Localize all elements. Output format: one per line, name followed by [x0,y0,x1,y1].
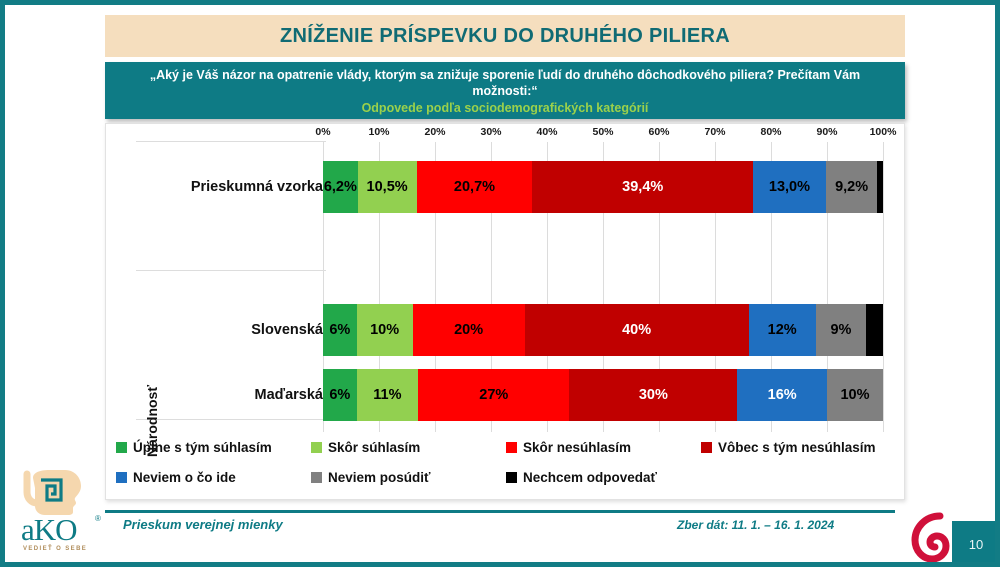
bar-segment[interactable] [866,304,883,356]
logo-wordmark: aKO [21,512,77,548]
x-axis-tick: 90% [816,126,837,138]
bar-segment[interactable]: 16% [737,369,827,421]
bar-segment[interactable]: 30% [569,369,737,421]
chart-legend: Úplne s tým súhlasímSkôr súhlasímSkôr ne… [106,440,906,500]
x-axis-tick: 100% [870,126,897,138]
legend-label: Nechcem odpovedať [523,470,657,485]
footer-divider [105,510,895,513]
legend-swatch [701,442,712,453]
x-axis-tick: 0% [315,126,330,138]
legend-swatch [311,442,322,453]
bar-segment[interactable]: 6% [323,369,357,421]
bar-segment[interactable]: 39,4% [532,161,753,213]
page-title: ZNÍŽENIE PRÍSPEVKU DO DRUHÉHO PILIERA [280,25,730,48]
legend-label: Neviem posúdiť [328,470,431,485]
legend-label: Skôr súhlasím [328,440,420,455]
legend-item[interactable]: Skôr súhlasím [311,440,420,455]
footer-caption: Prieskum verejnej mienky [123,517,283,532]
bar-row: Prieskumná vzorka6,2%10,5%20,7%39,4%13,0… [106,161,906,213]
page-number-badge: 10 [952,521,1000,567]
chart-card: 0%10%20%30%40%50%60%70%80%90%100% Priesk… [105,123,905,500]
bar-segment[interactable]: 6,2% [323,161,358,213]
logo-tagline: VEDIEŤ O SEBE [23,546,87,552]
legend-item[interactable]: Skôr nesúhlasím [506,440,631,455]
x-axis-tick: 30% [480,126,501,138]
bar-segment[interactable]: 10,5% [358,161,417,213]
legend-swatch [506,472,517,483]
bar-segment[interactable]: 11% [357,369,419,421]
x-axis-tick: 10% [368,126,389,138]
bar-segment[interactable]: 40% [525,304,749,356]
x-axis-tick: 70% [704,126,725,138]
bar-row: Slovenská6%10%20%40%12%9% [106,304,906,356]
legend-item[interactable]: Úplne s tým súhlasím [116,440,272,455]
question-text: „Aký je Váš názor na opatrenie vlády, kt… [119,67,891,99]
bar-segment[interactable]: 10% [827,369,883,421]
bar-category-label: Slovenská [251,304,323,356]
bar-segment[interactable]: 6% [323,304,357,356]
bar-segment[interactable]: 20% [413,304,525,356]
slide-root: ZNÍŽENIE PRÍSPEVKU DO DRUHÉHO PILIERA „A… [0,0,1000,567]
legend-item[interactable]: Vôbec s tým nesúhlasím [701,440,876,455]
bar-segment[interactable]: 13,0% [753,161,826,213]
legend-swatch [116,442,127,453]
question-banner: „Aký je Váš názor na opatrenie vlády, kt… [105,62,905,119]
legend-swatch [311,472,322,483]
x-axis-tick: 50% [592,126,613,138]
ako-logo: aKO ® VEDIEŤ O SEBE [15,470,115,562]
legend-swatch [116,472,127,483]
bar-segment[interactable]: 10% [357,304,413,356]
legend-label: Neviem o čo ide [133,470,236,485]
swirl-logo-icon [905,510,959,564]
bar-track: 6%10%20%40%12%9% [323,304,883,356]
bar-segment[interactable]: 12% [749,304,816,356]
question-subtitle: Odpovede podľa sociodemografických kateg… [119,99,891,117]
bar-segment[interactable] [877,161,883,213]
bar-segment[interactable]: 9,2% [826,161,878,213]
head-profile-icon [15,470,115,516]
bar-track: 6,2%10,5%20,7%39,4%13,0%9,2% [323,161,883,213]
bar-track: 6%11%27%30%16%10% [323,369,883,421]
legend-label: Skôr nesúhlasím [523,440,631,455]
logo-registered-mark: ® [95,514,101,523]
title-banner: ZNÍŽENIE PRÍSPEVKU DO DRUHÉHO PILIERA [105,15,905,57]
legend-item[interactable]: Nechcem odpovedať [506,470,657,485]
plot-area: Prieskumná vzorka6,2%10,5%20,7%39,4%13,0… [106,142,906,432]
legend-label: Vôbec s tým nesúhlasím [718,440,876,455]
x-axis-tick: 80% [760,126,781,138]
footer-date: Zber dát: 11. 1. – 16. 1. 2024 [677,518,834,532]
bar-row: Maďarská6%11%27%30%16%10% [106,369,906,421]
legend-item[interactable]: Neviem o čo ide [116,470,236,485]
x-axis-tick: 60% [648,126,669,138]
category-separator [136,270,326,271]
bar-category-label: Prieskumná vzorka [191,161,323,213]
x-axis-tick: 20% [424,126,445,138]
legend-label: Úplne s tým súhlasím [133,440,272,455]
legend-item[interactable]: Neviem posúdiť [311,470,431,485]
x-axis-tick: 40% [536,126,557,138]
bar-segment[interactable]: 9% [816,304,866,356]
bar-segment[interactable]: 27% [418,369,569,421]
bar-category-label: Maďarská [255,369,323,421]
bar-segment[interactable]: 20,7% [417,161,533,213]
legend-swatch [506,442,517,453]
page-number: 10 [969,537,983,552]
category-separator [136,141,326,142]
